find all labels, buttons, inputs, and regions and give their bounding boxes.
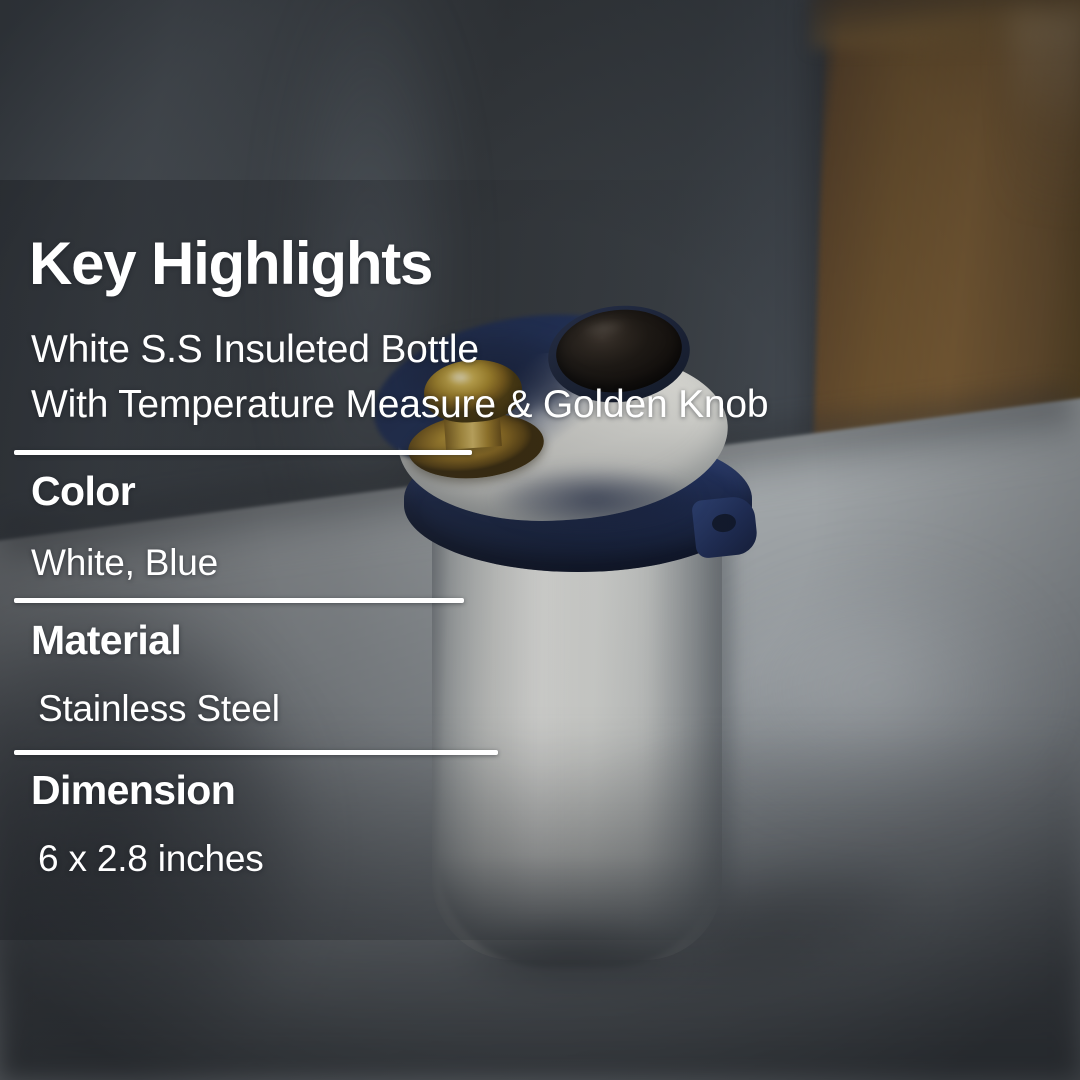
- spec-label-dimension: Dimension: [31, 767, 235, 814]
- product-subtitle-line-1: White S.S Insuleted Bottle: [31, 328, 479, 372]
- divider-above-material: [14, 598, 464, 603]
- spec-value-dimension: 6 x 2.8 inches: [38, 838, 264, 880]
- product-subtitle-line-2: With Temperature Measure & Golden Knob: [31, 383, 768, 427]
- spec-value-material: Stainless Steel: [38, 688, 280, 730]
- divider-above-dimension: [14, 750, 498, 755]
- divider-above-color: [14, 450, 472, 455]
- spec-label-color: Color: [31, 468, 135, 515]
- spec-value-color: White, Blue: [31, 542, 218, 584]
- product-highlight-card: Key Highlights White S.S Insuleted Bottl…: [0, 0, 1080, 1080]
- spec-label-material: Material: [31, 617, 181, 664]
- highlights-overlay: Key Highlights White S.S Insuleted Bottl…: [0, 0, 1080, 1080]
- page-title: Key Highlights: [29, 234, 432, 294]
